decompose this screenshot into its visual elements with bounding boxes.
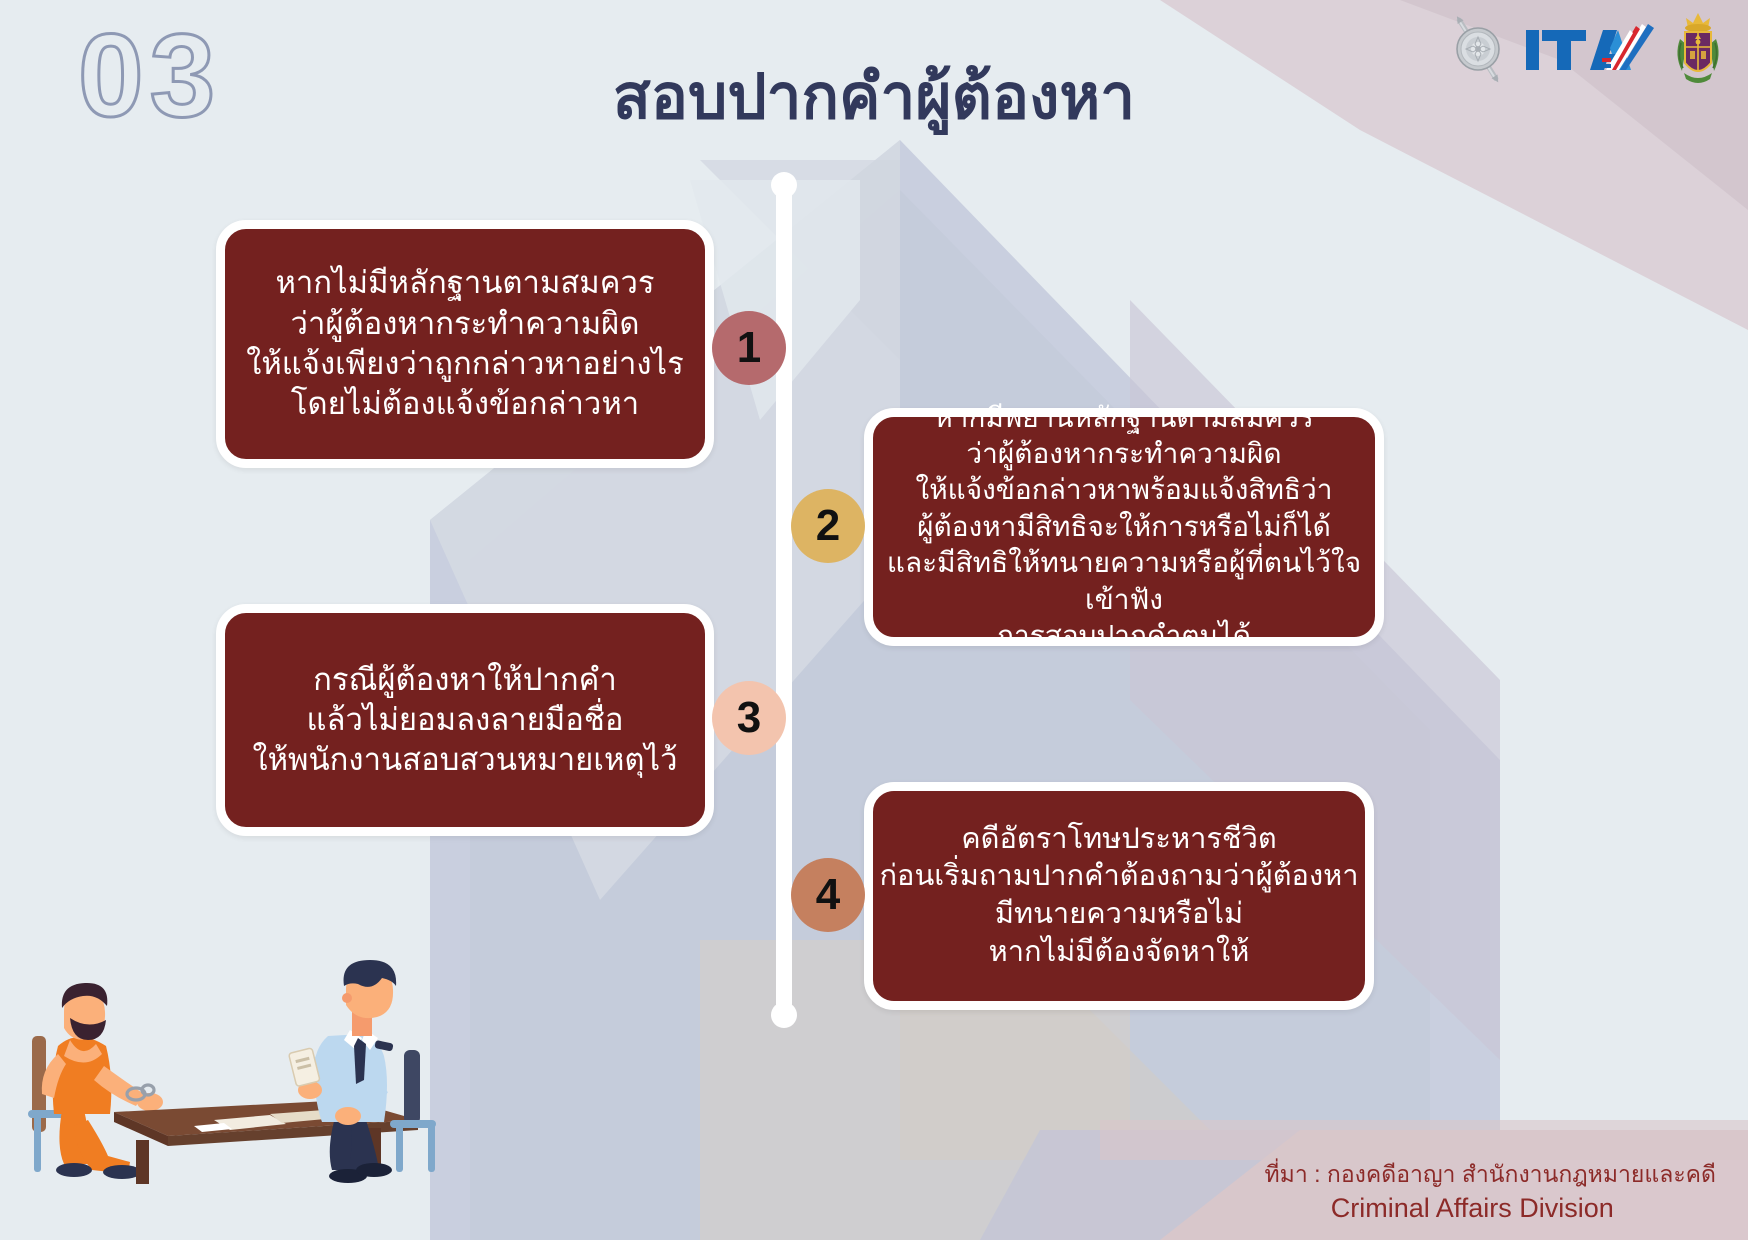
step-2-line-3: ให้แจ้งข้อกล่าวหาพร้อมแจ้งสิทธิว่า <box>916 474 1333 505</box>
step-marker-2[interactable]: 2 <box>791 489 865 563</box>
step-1-line-2: ว่าผู้ต้องหากระทำความผิด <box>291 306 640 341</box>
footer-english-text: Criminal Affairs Division <box>1265 1190 1716 1226</box>
step-4-line-2: ก่อนเริ่มถามปากคำต้องถามว่าผู้ต้องหา <box>879 860 1358 892</box>
police-officer-figure <box>289 960 436 1183</box>
step-4-line-1: คดีอัตราโทษประหารชีวิต <box>961 823 1277 855</box>
timeline-line <box>776 188 792 1012</box>
step-marker-1[interactable]: 1 <box>712 311 786 385</box>
police-interrogation-illustration <box>18 914 458 1184</box>
timeline-cap-bottom <box>771 1002 797 1028</box>
ita-logo-icon <box>1524 18 1656 80</box>
step-card-4-text: คดีอัตราโทษประหารชีวิต ก่อนเริ่มถามปากคำ… <box>879 821 1358 972</box>
step-2-line-4: ผู้ต้องหามีสิทธิจะให้การหรือไม่ก็ได้ <box>917 511 1331 542</box>
step-1-line-1: หากไม่มีหลักฐานตามสมควร <box>275 265 654 300</box>
step-1-line-4: โดยไม่ต้องแจ้งข้อกล่าวหา <box>291 386 639 421</box>
step-card-3-text: กรณีผู้ต้องหาให้ปากคำ แล้วไม่ยอมลงลายมือ… <box>252 660 677 781</box>
step-card-2[interactable]: หากมีพยานหลักฐานตามสมควร ว่าผู้ต้องหากระ… <box>864 408 1384 646</box>
step-2-line-6: การสอบปากคำตนได้ <box>997 620 1251 651</box>
step-card-1-text: หากไม่มีหลักฐานตามสมควร ว่าผู้ต้องหากระท… <box>246 263 684 424</box>
thai-government-crest-icon <box>1672 11 1724 87</box>
step-3-line-2: แล้วไม่ยอมลงลายมือชื่อ <box>306 702 623 737</box>
step-card-3[interactable]: กรณีผู้ต้องหาให้ปากคำ แล้วไม่ยอมลงลายมือ… <box>216 604 714 836</box>
footer-attribution: ที่มา : กองคดีอาญา สำนักงานกฎหมายและคดี … <box>1265 1159 1716 1226</box>
step-card-1[interactable]: หากไม่มีหลักฐานตามสมควร ว่าผู้ต้องหากระท… <box>216 220 714 468</box>
footer-source-text: ที่มา : กองคดีอาญา สำนักงานกฎหมายและคดี <box>1265 1159 1716 1190</box>
step-4-line-4: หากไม่มีต้องจัดหาให้ <box>989 936 1250 968</box>
step-3-line-3: ให้พนักงานสอบสวนหมายเหตุไว้ <box>252 742 677 777</box>
step-4-line-3: มีทนายความหรือไม่ <box>995 898 1243 930</box>
step-card-2-text: หากมีพยานหลักฐานตามสมควร ว่าผู้ต้องหากระ… <box>873 400 1375 655</box>
step-2-line-5: และมีสิทธิให้ทนายความหรือผู้ที่ตนไว้ใจเข… <box>887 547 1361 614</box>
thai-royal-silver-badge-icon <box>1448 10 1508 88</box>
step-3-line-1: กรณีผู้ต้องหาให้ปากคำ <box>313 662 617 697</box>
step-marker-3[interactable]: 3 <box>712 681 786 755</box>
logo-group <box>1448 10 1724 88</box>
step-1-line-3: ให้แจ้งเพียงว่าถูกกล่าวหาอย่างไร <box>246 346 684 381</box>
step-2-line-1: หากมีพยานหลักฐานตามสมควร <box>934 402 1314 433</box>
step-card-4[interactable]: คดีอัตราโทษประหารชีวิต ก่อนเริ่มถามปากคำ… <box>864 782 1374 1010</box>
step-2-line-2: ว่าผู้ต้องหากระทำความผิด <box>966 438 1281 469</box>
step-marker-4[interactable]: 4 <box>791 858 865 932</box>
